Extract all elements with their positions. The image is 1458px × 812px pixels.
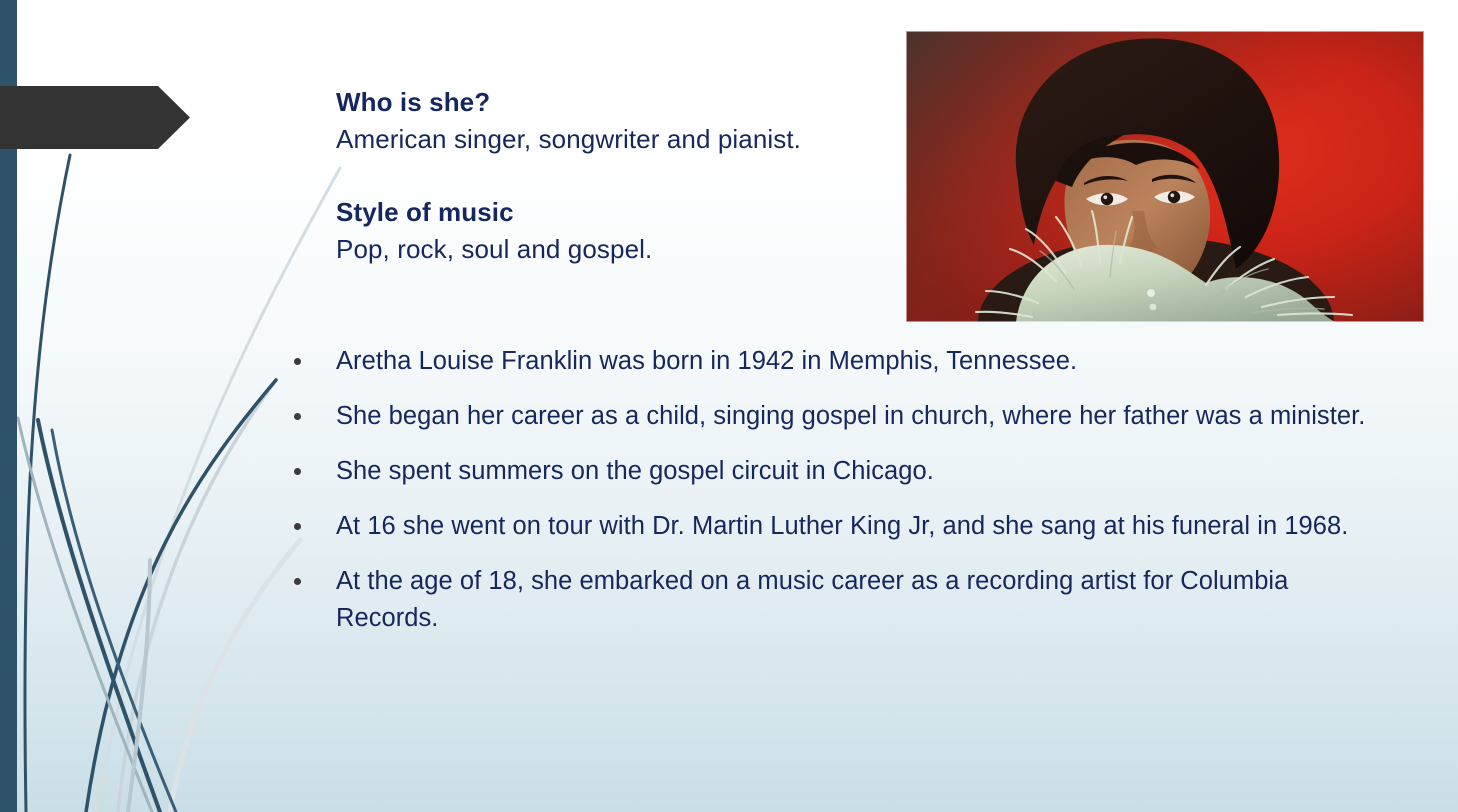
who-is-she-heading: Who is she? [336,84,881,121]
arrow-banner-shape [0,86,190,149]
intro-group-who: Who is she? American singer, songwriter … [336,84,881,158]
biography-bullet-list: Aretha Louise Franklin was born in 1942 … [290,343,1395,637]
portrait-photo-artwork [906,31,1424,322]
swoosh-mid-2 [128,560,150,812]
list-item-text: At 16 she went on tour with Dr. Martin L… [336,512,1348,540]
list-item-text: At the age of 18, she embarked on a musi… [336,567,1288,632]
style-of-music-value: Pop, rock, soul and gospel. [336,231,881,268]
list-item-text: Aretha Louise Franklin was born in 1942 … [336,347,1077,375]
swoosh-mid-1 [18,418,152,812]
bullet-dot-icon [294,523,301,530]
bullet-dot-icon [294,413,301,420]
pentagon-arrow [0,86,190,149]
swoosh-dark-2 [86,380,276,812]
swoosh-dark-1 [25,155,70,812]
intro-text-block: Who is she? American singer, songwriter … [336,84,881,268]
bullet-dot-icon [294,358,301,365]
style-of-music-heading: Style of music [336,194,881,231]
slide-canvas: Who is she? American singer, songwriter … [0,0,1458,812]
who-is-she-value: American singer, songwriter and pianist. [336,121,881,158]
swoosh-dark-3 [38,420,160,812]
list-item: At 16 she went on tour with Dr. Martin L… [290,508,1395,545]
portrait-photo [906,31,1424,322]
intro-group-style: Style of music Pop, rock, soul and gospe… [336,194,881,268]
bullet-dot-icon [294,578,301,585]
list-item-text: She spent summers on the gospel circuit … [336,457,934,485]
list-item: She spent summers on the gospel circuit … [290,453,1395,490]
list-item: She began her career as a child, singing… [290,398,1395,435]
swoosh-dark-4 [52,430,176,812]
bullet-dot-icon [294,468,301,475]
swoosh-light-2 [118,380,276,812]
list-item: Aretha Louise Franklin was born in 1942 … [290,343,1395,380]
swoosh-light-3 [170,540,300,812]
list-item-text: She began her career as a child, singing… [336,402,1365,430]
list-item: At the age of 18, she embarked on a musi… [290,563,1395,637]
